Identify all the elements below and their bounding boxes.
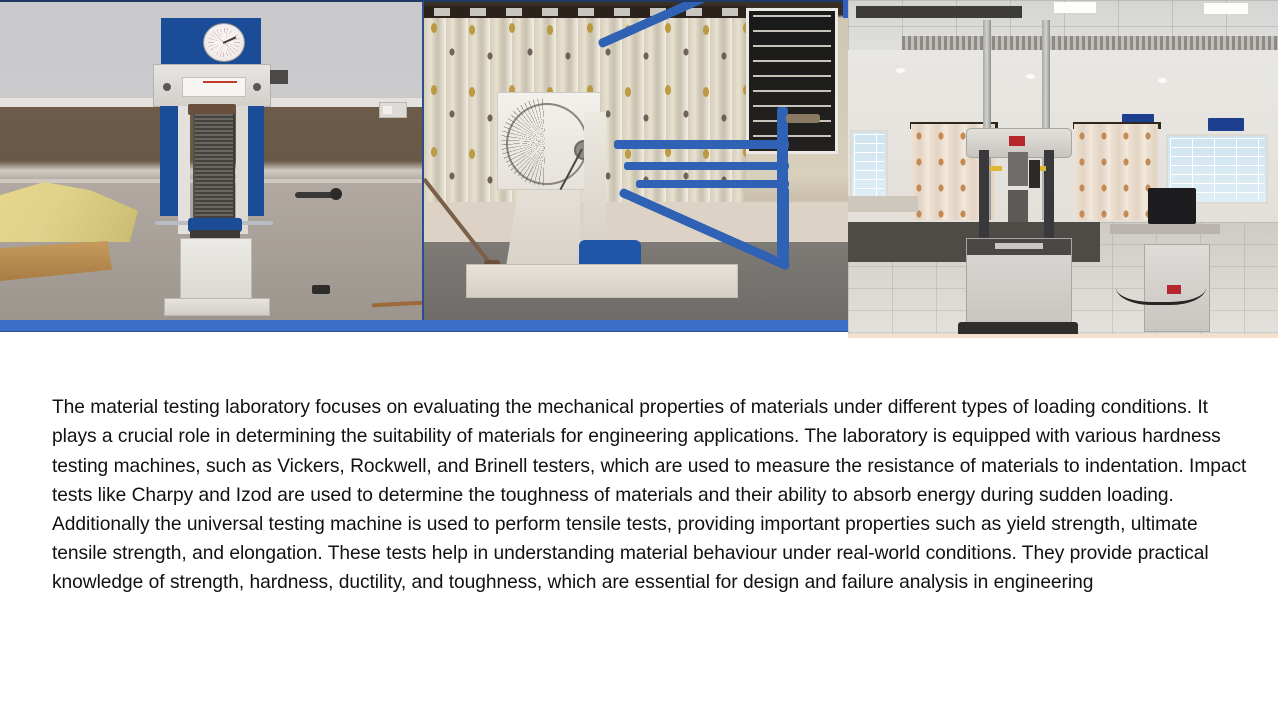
- guard-frame-bar-2: [624, 162, 789, 170]
- machine-base: [180, 238, 252, 306]
- photo-hardness-tester[interactable]: [0, 0, 424, 320]
- lab-description-paragraph: The material testing laboratory focuses …: [52, 393, 1252, 597]
- presentation-slide: The material testing laboratory focuses …: [0, 0, 1278, 715]
- work-table: [1110, 224, 1220, 234]
- photo-impact-tester[interactable]: [424, 0, 848, 320]
- machine-foundation-slab: [466, 264, 738, 298]
- knob-right: [253, 83, 261, 91]
- yellow-bag: [0, 182, 138, 242]
- utm-ram-left: [979, 150, 989, 242]
- utm-brand-logo: [1009, 136, 1025, 146]
- photo-universal-testing-machine[interactable]: [848, 0, 1278, 334]
- handle-knob: [330, 188, 342, 200]
- side-bench: [848, 196, 918, 212]
- column-right: [236, 106, 248, 234]
- guard-frame-lower: [779, 187, 789, 267]
- machine-nameplate: [182, 77, 246, 97]
- guard-frame-bar-3: [636, 180, 789, 188]
- ceiling-light-1: [1054, 2, 1096, 13]
- utm-machine: [966, 20, 1082, 330]
- photo-hardness-accent-bar: [0, 320, 424, 332]
- window-left: [850, 130, 888, 204]
- guard-frame-bar-1: [614, 140, 789, 149]
- utm-upper-grip: [1008, 152, 1028, 186]
- pendulum-axle: [786, 114, 820, 123]
- photo-strip: [0, 0, 1278, 338]
- floor-cables: [1116, 262, 1206, 305]
- computer-monitor-icon: [1148, 188, 1196, 224]
- wooden-box: [0, 241, 112, 281]
- utm-cabinet-top-panel: [967, 239, 1071, 255]
- bellows-column: [193, 114, 235, 220]
- utm-capacity-label: [995, 243, 1043, 249]
- wall-sign-2: [1208, 118, 1244, 131]
- base-plate: [164, 298, 270, 316]
- machine-body: [153, 64, 271, 107]
- ceiling-dark-panel: [856, 6, 1022, 18]
- machine-head-panel: [161, 18, 261, 64]
- pillar-left: [160, 106, 180, 216]
- side-arm: [270, 70, 288, 84]
- utm-base-cabinet: [966, 238, 1072, 332]
- downlight-1: [896, 68, 905, 73]
- utm-ram-right: [1044, 150, 1054, 242]
- downlight-3: [1158, 78, 1167, 83]
- column-left: [178, 106, 190, 234]
- photo-impact-accent-bar: [424, 320, 848, 332]
- curtain-grommets: [424, 8, 746, 16]
- hardness-machine: [148, 18, 288, 318]
- machine-handle: [295, 192, 335, 198]
- knob-left: [163, 83, 171, 91]
- photo-utm-accent-bar: [848, 334, 1278, 338]
- window-grille: [746, 8, 838, 154]
- utm-lower-grip: [1008, 190, 1028, 222]
- dial-ticks: [208, 28, 240, 57]
- curtain-right: [1074, 124, 1158, 220]
- floor-rod: [372, 301, 424, 308]
- utm-floor-feet: [958, 322, 1078, 334]
- dial-gauge-icon: [203, 23, 245, 62]
- utm-sensor-box: [1029, 160, 1040, 188]
- wall-socket-icon: [379, 102, 407, 118]
- utm-marker-left: [990, 166, 1002, 171]
- ceiling-light-2: [1204, 3, 1248, 14]
- ventilation-duct: [902, 36, 1278, 50]
- floor-tool: [312, 285, 330, 294]
